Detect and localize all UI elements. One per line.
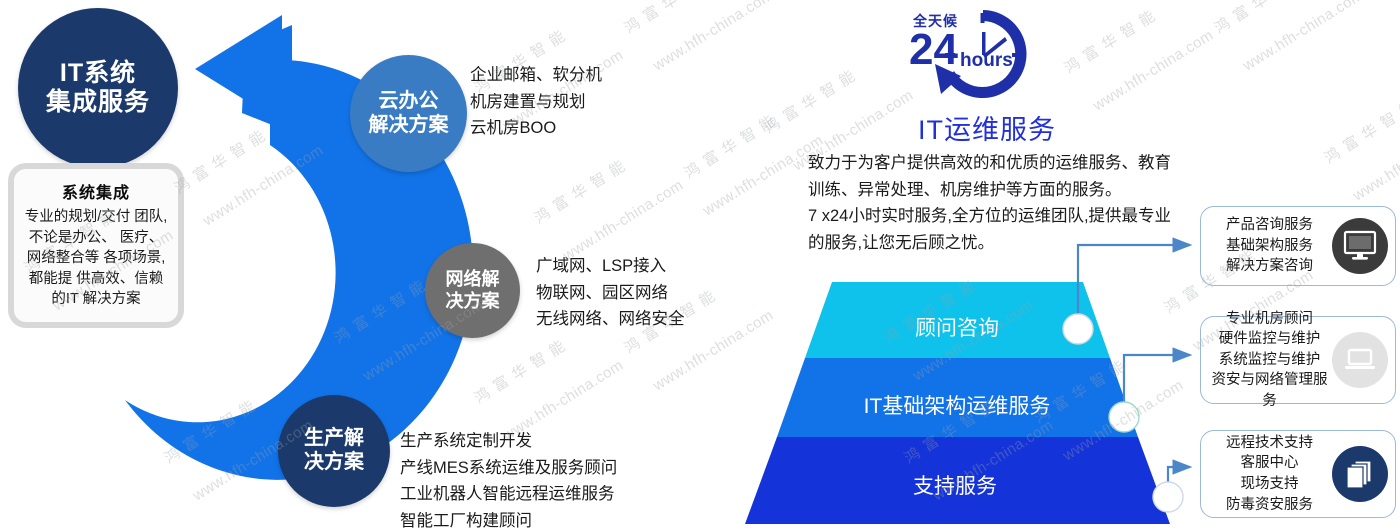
watermark-text: www.hfh-china.com [650,0,777,74]
cloud-office-item-list: 企业邮箱、软分机 机房建置与规划 云机房BOO [470,62,602,142]
network-solution-item-list: 广域网、LSP接入 物联网、园区网络 无线网络、网络安全 [536,253,685,333]
watermark-text: www.hfh-china.com [1350,117,1400,205]
service-card-product-consulting[interactable]: 产品咨询服务 基础架构服务 解决方案咨询 [1200,206,1396,286]
documents-icon [1332,446,1388,502]
node-label-line2: 决方案 [304,451,364,475]
pyramid-node-dot-1 [1063,314,1093,344]
node-label-line2: 解决方案 [369,114,449,138]
system-integration-body: 专业的规划/交付 团队,不论是办公、 医疗、网络整合等 各项场景,都能提 供高效… [22,207,170,310]
service-card-support[interactable]: 远程技术支持 客服中心 现场支持 防毒资安服务 [1200,430,1396,518]
service-card-text: 产品咨询服务 基础架构服务 解决方案咨询 [1201,215,1332,277]
node-production-solution[interactable]: 生产解 决方案 [278,395,390,507]
clock-24hours-logo: 全天候 24 hours [905,2,1035,108]
watermark-text: 鸿富华智能 [1060,2,1164,78]
watermark-text: www.hfh-china.com [1090,27,1217,115]
pyramid-node-dot-3 [1153,482,1183,512]
clock-unit-text: hours [960,50,1013,71]
node-label-line1: 云办公 [379,90,439,114]
monitor-icon [1332,218,1388,274]
watermark-text: www.hfh-china.com [1240,0,1367,74]
watermark-text: 鸿富华智能 [680,107,784,183]
watermark-text: www.hfh-china.com [560,177,687,265]
service-card-text: 远程技术支持 客服中心 现场支持 防毒资安服务 [1201,433,1332,515]
clock-big-number: 24 [909,25,958,74]
node-label-line2: 集成服务 [46,88,150,118]
node-label-line2: 决方案 [446,291,500,312]
service-card-datacenter-ops[interactable]: 专业机房顾问 硬件监控与维护 系统监控与维护 资安与网络管理服务 [1200,316,1396,404]
node-label-line1: 网络解 [446,269,500,290]
infographic-canvas: IT系统 集成服务 云办公 解决方案 网络解 决方案 生产解 决方案 系统集成 … [0,0,1400,530]
pyramid-node-dot-2 [1109,402,1139,432]
watermark-text: 鸿富华智能 [1210,0,1314,38]
pyramid-connectors [1040,195,1220,525]
laptop-icon [1332,332,1388,388]
system-integration-title: 系统集成 [22,179,170,203]
node-cloud-office-solution[interactable]: 云办公 解决方案 [350,55,467,172]
node-label-line1: 生产解 [304,427,364,451]
system-integration-info-box: 系统集成 专业的规划/交付 团队,不论是办公、 医疗、网络整合等 各项场景,都能… [8,163,184,328]
watermark-text: 鸿富华智能 [530,152,634,228]
watermark-text: 鸿富华智能 [620,0,724,38]
node-label-line1: IT系统 [60,59,136,89]
watermark-text: 鸿富华智能 [760,62,864,138]
production-solution-item-list: 生产系统定制开发 产线MES系统运维及服务顾问 工业机器人智能远程运维服务 智能… [400,428,617,530]
connector-line-1 [1078,245,1190,329]
service-card-text: 专业机房顾问 硬件监控与维护 系统监控与维护 资安与网络管理服务 [1201,309,1332,412]
node-it-system-integration[interactable]: IT系统 集成服务 [18,8,178,168]
it-operations-title: IT运维服务 [918,108,1056,147]
watermark-text: 鸿富华智能 [1320,92,1400,168]
node-network-solution[interactable]: 网络解 决方案 [425,243,520,338]
